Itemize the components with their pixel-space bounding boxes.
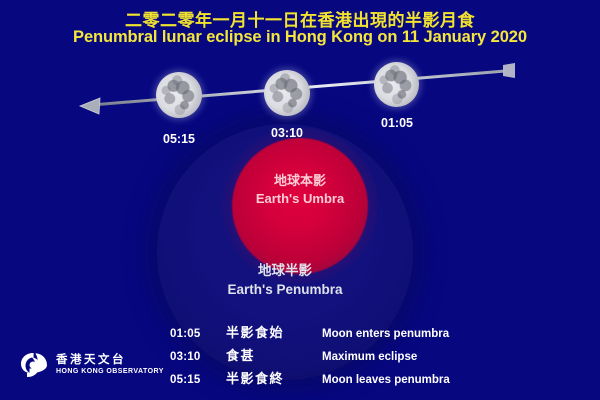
earth-umbra-label-en: Earth's Umbra (232, 190, 368, 208)
eclipse-timeline-legend: 01:05 半影食始 Moon enters penumbra 03:10 食甚… (170, 322, 450, 391)
earth-penumbra-label: 地球半影 Earth's Penumbra (190, 262, 380, 300)
hko-logo: 香港天文台 HONG KONG OBSERVATORY (16, 350, 164, 380)
legend-time: 01:05 (170, 328, 226, 340)
legend-row: 01:05 半影食始 Moon enters penumbra (170, 322, 450, 345)
legend-row: 05:15 半影食終 Moon leaves penumbra (170, 368, 450, 391)
eclipse-infographic: 二零二零年一月十一日在香港出現的半影月食 Penumbral lunar ecl… (0, 0, 600, 400)
left-arrow-icon (80, 98, 100, 114)
legend-label-en: Moon enters penumbra (322, 328, 449, 340)
earth-umbra-label-zh: 地球本影 (232, 172, 368, 190)
moon-time-0310: 03:10 (261, 126, 313, 140)
moon-disc-0515 (156, 72, 202, 118)
moon-time-0515: 05:15 (153, 132, 205, 146)
legend-label-en: Maximum eclipse (322, 351, 417, 363)
hko-logo-text: 香港天文台 HONG KONG OBSERVATORY (56, 354, 164, 375)
legend-label-zh: 半影食終 (226, 368, 322, 387)
hko-name-en: HONG KONG OBSERVATORY (56, 368, 164, 376)
legend-time: 03:10 (170, 351, 226, 363)
hko-swirl-icon (16, 350, 50, 380)
legend-label-en: Moon leaves penumbra (322, 374, 450, 386)
hko-name-zh: 香港天文台 (56, 354, 164, 367)
legend-time: 05:15 (170, 374, 226, 386)
legend-label-zh: 半影食始 (226, 322, 322, 341)
earth-penumbra-label-en: Earth's Penumbra (190, 281, 380, 300)
earth-penumbra-label-zh: 地球半影 (190, 262, 380, 281)
moon-time-0105: 01:05 (371, 116, 423, 130)
legend-label-zh: 食甚 (226, 345, 322, 364)
moon-disc-0105 (374, 62, 419, 107)
earth-umbra-label: 地球本影 Earth's Umbra (232, 172, 368, 207)
legend-row: 03:10 食甚 Maximum eclipse (170, 345, 450, 368)
page-title-english: Penumbral lunar eclipse in Hong Kong on … (0, 28, 600, 47)
moon-disc-0310 (264, 70, 310, 116)
